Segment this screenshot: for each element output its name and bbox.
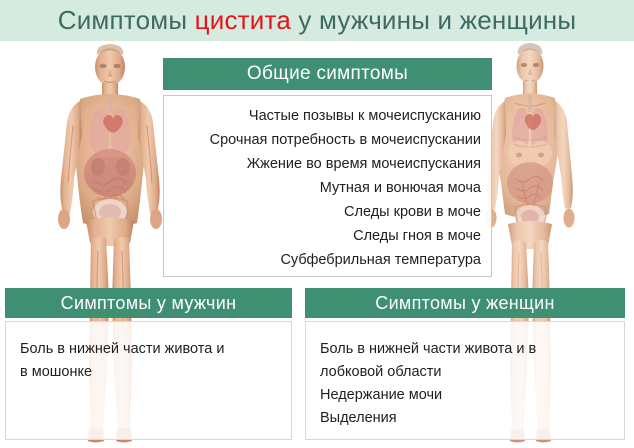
general-symptoms-title: Общие симптомы xyxy=(247,63,408,85)
list-item: Частые позывы к мочеиспусканию xyxy=(174,104,481,128)
list-item: Следы гноя в моче xyxy=(174,224,481,248)
women-symptoms-title: Симптомы у женщин xyxy=(375,293,554,314)
page-title: Симптомы цистита у мужчины и женщины xyxy=(58,5,577,36)
men-symptoms-header: Симптомы у мужчин xyxy=(5,288,292,318)
list-item: Следы крови в моче xyxy=(174,200,481,224)
list-item: Боль в нижней части живота и в xyxy=(320,338,610,361)
list-item: лобковой области xyxy=(320,361,610,384)
men-symptoms-box: Боль в нижней части живота и в мошонке xyxy=(5,321,292,440)
page-title-before: Симптомы xyxy=(58,5,195,35)
list-item: Недержание мочи xyxy=(320,384,610,407)
list-item: Выделения xyxy=(320,407,610,430)
general-symptoms-header: Общие симптомы xyxy=(163,58,492,90)
men-symptoms-title: Симптомы у мужчин xyxy=(61,293,237,314)
page-title-band: Симптомы цистита у мужчины и женщины xyxy=(0,0,634,41)
list-item: Мутная и вонючая моча xyxy=(174,176,481,200)
list-item: Жжение во время мочеиспускания xyxy=(174,152,481,176)
list-item: в мошонке xyxy=(20,361,277,384)
page-title-after: у мужчины и женщины xyxy=(291,5,576,35)
list-item: Субфебрильная температура xyxy=(174,248,481,272)
women-symptoms-header: Симптомы у женщин xyxy=(305,288,625,318)
list-item: Срочная потребность в мочеиспускании xyxy=(174,128,481,152)
women-symptoms-list: Боль в нижней части живота и в лобковой … xyxy=(320,338,610,430)
infographic-root: Симптомы цистита у мужчины и женщины xyxy=(0,0,634,448)
general-symptoms-box: Частые позывы к мочеиспусканию Срочная п… xyxy=(163,95,492,277)
men-symptoms-list: Боль в нижней части живота и в мошонке xyxy=(20,338,277,384)
general-symptoms-list: Частые позывы к мочеиспусканию Срочная п… xyxy=(174,104,481,272)
women-symptoms-box: Боль в нижней части живота и в лобковой … xyxy=(305,321,625,440)
list-item: Боль в нижней части живота и xyxy=(20,338,277,361)
page-title-accent: цистита xyxy=(195,5,291,35)
